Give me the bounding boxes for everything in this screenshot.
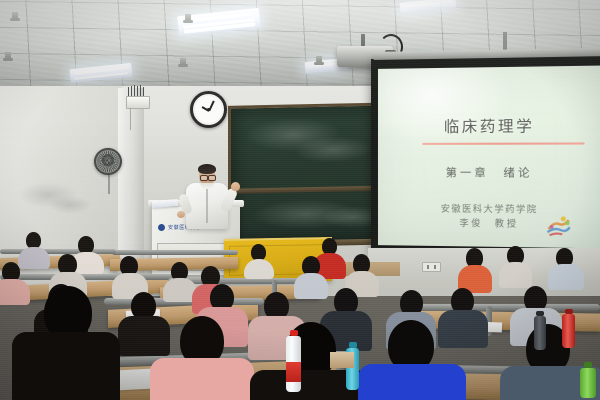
student-torso <box>438 310 488 348</box>
student-torso <box>294 273 328 299</box>
student-torso <box>548 264 584 290</box>
student-torso <box>18 247 50 269</box>
student-torso <box>0 279 30 305</box>
bottle-label <box>286 362 301 382</box>
bottle-cap <box>536 311 544 316</box>
student-torso <box>358 364 466 400</box>
student-torso <box>244 259 274 279</box>
bottle-cap <box>290 330 298 336</box>
bottle-cap <box>565 309 573 314</box>
thermos-bottle <box>534 316 546 350</box>
student-torso <box>118 316 170 356</box>
water-bottle <box>286 336 301 392</box>
student-torso <box>150 358 254 400</box>
water-bottle <box>562 314 575 348</box>
student-torso <box>499 262 532 288</box>
lecture-hall-scene: 临床药理学 第一章 绪论 安徽医科大学药学院 李俊 教授 安徽医科大学 <box>0 0 600 400</box>
bottle-cap <box>584 362 592 368</box>
bottle-cap <box>349 342 357 348</box>
student-torso <box>12 332 120 400</box>
green-bottle <box>580 368 596 398</box>
desk-box-item <box>330 352 354 368</box>
